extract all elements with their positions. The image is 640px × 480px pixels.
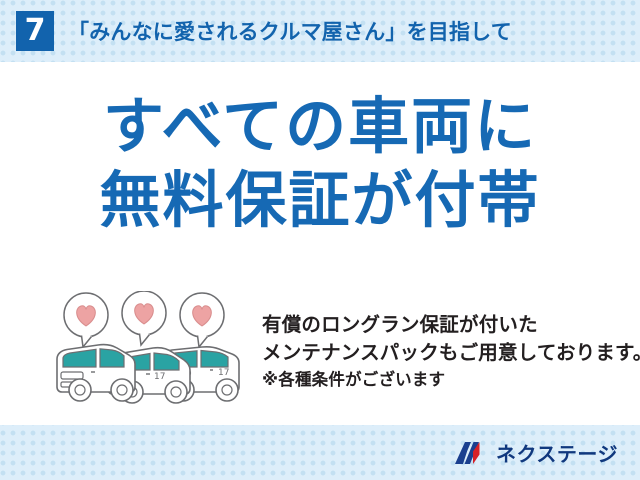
body-copy: 有償のロングラン保証が付いた メンテナンスパックもご用意しております。 ※各種条… — [262, 311, 640, 393]
lower-content: 17 17 — [0, 287, 640, 417]
nextage-n-icon — [454, 440, 488, 466]
promo-banner: 7 「みんなに愛されるクルマ屋さん」を目指して すべての車両に 無料保証が付帯 — [0, 0, 640, 480]
body-line-1: 有償のロングラン保証が付いた — [262, 311, 640, 339]
header-title: 「みんなに愛されるクルマ屋さん」を目指して — [68, 16, 512, 46]
headline-line-1: すべての車両に — [0, 90, 640, 164]
heart-icon — [135, 304, 154, 324]
car-kei-van — [57, 345, 135, 401]
headline-line-2: 無料保証が付帯 — [0, 164, 640, 238]
cars-illustration: 17 17 — [50, 291, 250, 413]
headline: すべての車両に 無料保証が付帯 — [0, 90, 640, 239]
body-note: ※各種条件がございます — [262, 368, 640, 393]
content-card: すべての車両に 無料保証が付帯 — [0, 62, 640, 425]
banner-footer: ネクステージ — [0, 425, 640, 480]
body-line-2: メンテナンスパックもご用意しております。 — [262, 339, 640, 367]
banner-header: 7 「みんなに愛されるクルマ屋さん」を目指して — [0, 0, 640, 62]
brand-logo: ネクステージ — [454, 438, 618, 467]
three-cars-with-heart-bubbles-svg: 17 17 — [50, 291, 250, 409]
heart-icon — [77, 306, 96, 326]
section-number-badge: 7 — [16, 11, 54, 51]
heart-icon — [193, 306, 212, 326]
svg-text:17: 17 — [154, 372, 165, 382]
svg-text:17: 17 — [218, 368, 229, 378]
brand-logo-text: ネクステージ — [496, 438, 618, 467]
